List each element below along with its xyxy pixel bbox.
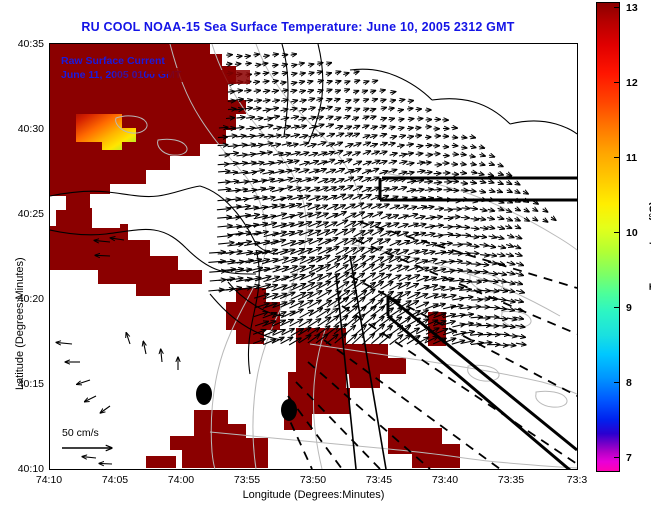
current-vector [352,333,364,344]
current-vector [308,64,314,66]
current-vector [271,116,279,118]
current-vector [398,110,404,111]
current-vector [309,161,319,164]
sst-hot-patches [50,44,246,316]
y-tick: 40:25 [0,208,44,220]
current-vector [389,127,395,129]
current-vector [227,136,237,137]
current-vector [246,117,255,118]
current-vector [543,219,548,222]
current-vector [290,108,297,110]
current-vector [282,329,295,335]
current-vector [344,89,350,91]
current-vector [370,91,376,93]
current-vector [470,182,477,183]
current-vector [415,189,424,191]
current-vector [298,249,312,255]
current-vector [217,235,232,237]
current-vector [397,250,408,255]
current-vector [498,246,506,248]
current-vector [263,73,269,74]
colorbar-tick: 13 [626,2,638,14]
current-vector [307,283,322,291]
current-vector [282,90,289,91]
current-vector [479,147,485,149]
current-vector [245,63,251,64]
current-vector [425,137,431,138]
current-vector [290,90,296,92]
current-vector [77,380,90,384]
current-vector [426,155,433,156]
current-vector [498,182,504,184]
current-vector [354,71,360,73]
current-vector [307,81,313,83]
current-vector [489,155,495,157]
current-vector [469,253,479,254]
current-vector [318,142,327,145]
colorbar-tick: 8 [626,377,632,389]
current-vector [460,154,466,155]
current-vector [406,301,419,308]
current-vector [532,218,537,221]
current-vector [451,127,457,128]
current-vector [478,280,488,281]
current-vector [345,108,351,110]
current-vector [236,56,242,57]
colorbar-tick: 9 [626,302,632,314]
current-vector [507,235,514,237]
current-vector [226,64,232,65]
current-vector [470,246,479,247]
current-vector [361,195,371,200]
current-vector [298,126,306,128]
current-vector [326,160,335,164]
current-vector [408,101,414,102]
current-vector [506,245,513,247]
current-vector [505,226,512,228]
current-vector [460,164,466,165]
current-vector [460,289,471,290]
current-vector [327,134,335,137]
current-vector [406,163,414,165]
page-title: RU COOL NOAA-15 Sea Surface Temperature:… [0,20,596,34]
current-vector [236,90,243,91]
current-vector [415,135,421,136]
x-tick: 74:10 [23,474,75,486]
current-vector [498,273,507,275]
current-vector [390,136,397,138]
current-vector [390,292,403,300]
current-vector [397,145,404,147]
current-vector [515,218,521,221]
current-vector [218,243,234,245]
current-vector [514,282,522,285]
current-vector [308,107,315,109]
current-vector [469,324,481,325]
current-vector [406,153,413,155]
current-vector [388,170,396,173]
current-vector [489,163,495,165]
current-vector [228,153,239,154]
current-vector [370,135,377,138]
current-vector [299,170,309,173]
current-vector [380,143,387,146]
current-vector [479,191,485,193]
current-vector [453,245,463,246]
current-vector [335,126,342,129]
current-vector [263,56,269,57]
current-vector [470,136,476,137]
current-vector [344,238,356,245]
current-vector [462,297,474,298]
current-vector [408,258,420,263]
current-vector [380,100,386,102]
current-vector [469,190,476,191]
current-vector [345,334,357,345]
current-vector [506,173,511,176]
current-vector [388,143,395,145]
current-vector [281,135,290,137]
current-vector [291,65,297,66]
current-vector [326,73,332,75]
colorbar-tick: 7 [626,452,632,464]
current-vector [461,199,469,200]
current-vector [291,126,299,128]
scale-legend: 50 cm/s [62,427,112,448]
current-vector [345,170,354,174]
current-vector [299,152,309,155]
current-vector [334,108,340,110]
current-vector [326,116,333,119]
current-vector [399,154,406,156]
current-vector [462,208,470,209]
current-vector [253,170,264,172]
current-vector [497,237,504,239]
current-vector [488,174,494,176]
current-vector [471,300,482,301]
current-vector [398,187,407,190]
current-vector [372,80,378,82]
current-vector [343,195,353,200]
current-vector [370,116,376,118]
current-vector [433,235,443,237]
current-vector [217,217,231,218]
current-vector [480,290,490,291]
current-vector [416,302,429,308]
current-vector [281,187,293,190]
current-vector [515,236,521,239]
current-vector [255,127,264,128]
current-vector [308,134,316,137]
current-vector [308,73,314,75]
current-vector [272,91,279,92]
current-vector [496,299,506,301]
current-vector [343,159,352,163]
current-vector [389,161,397,164]
current-vector [345,213,356,219]
current-vector [515,191,520,194]
current-vector [308,248,322,254]
current-vector [372,160,380,163]
x-tick: 74:05 [89,474,141,486]
current-vector [398,215,408,219]
current-vector [406,172,414,174]
current-vector [442,243,452,244]
current-vector [299,135,308,138]
current-vector [443,227,452,228]
current-vector [309,117,317,119]
current-vector [370,109,376,111]
current-vector [255,135,264,137]
current-vector [425,189,433,190]
current-vector [289,144,298,147]
current-vector [478,173,484,175]
current-vector [363,108,369,110]
current-vector [370,187,379,191]
current-vector [516,263,523,266]
current-vector [434,182,442,183]
current-vector [390,100,396,101]
current-vector [470,146,476,147]
current-vector [478,271,488,272]
current-vector [317,161,326,165]
current-vector [363,116,369,118]
current-vector [398,206,408,209]
current-vector [417,162,424,163]
current-vector [280,82,286,83]
current-vector [335,90,341,92]
current-vector [218,189,231,190]
current-vector [334,179,344,183]
colorbar-tick: 10 [626,227,638,239]
current-vector [433,287,445,290]
current-vector [318,317,331,326]
current-vector [506,182,512,185]
current-vector [352,169,361,173]
current-vector [298,118,306,120]
current-vector [253,82,260,83]
current-vector [415,310,428,316]
current-vector [95,255,110,256]
current-vector [354,212,365,218]
current-vector [434,269,445,272]
current-vector [235,64,241,65]
current-vector [425,226,435,228]
current-vector [461,183,468,184]
current-vector [415,128,421,129]
current-vector [415,180,423,182]
current-vector [444,210,453,211]
current-vector [316,124,324,127]
current-vector [244,56,250,57]
current-vector [399,100,405,101]
current-vector [362,178,371,182]
current-vector [398,292,411,299]
current-vector [263,91,270,92]
current-vector [226,55,232,56]
current-vector [218,171,230,172]
current-vector [334,99,340,101]
current-vector [543,209,548,212]
current-vector [551,217,556,220]
current-vector [515,253,522,256]
current-vector [497,227,504,229]
current-vector [263,81,269,82]
current-vector [246,144,256,146]
current-vector [353,203,363,208]
current-vector [291,73,297,74]
current-vector [254,90,261,91]
current-vector [264,118,272,120]
current-vector [372,212,382,217]
current-vector [308,98,315,100]
current-vector [335,169,344,173]
current-vector [363,81,369,83]
current-vector [515,226,521,229]
current-vector [273,127,282,129]
current-vector [334,142,342,145]
current-vector [523,191,528,194]
current-vector [444,295,456,298]
annotation-line-1: Raw Surface Current [61,55,165,67]
current-vector [417,171,425,172]
x-axis-label: Longitude (Degrees:Minutes) [49,489,578,501]
current-vector [244,90,251,91]
current-vector [345,204,356,209]
current-vector [488,181,494,183]
current-vector [227,244,243,246]
current-vector [336,133,344,136]
current-vector [426,145,432,146]
current-vector [309,213,321,218]
current-vector [245,100,253,101]
current-vector [505,309,515,311]
current-vector [343,73,349,75]
current-vector [407,190,416,192]
current-vector [362,204,372,209]
current-vector [228,91,235,92]
current-vector [281,223,295,227]
current-vector [353,99,359,101]
current-vector [460,173,466,174]
current-vector [407,207,417,210]
current-vector [480,255,489,256]
current-vector [514,317,523,319]
current-vector [363,162,371,166]
current-vector [236,241,252,244]
current-vector [307,300,321,308]
current-vector [390,92,396,93]
current-vector [254,100,261,101]
current-vector [434,225,444,227]
current-vector [219,127,228,128]
x-tick: 73:3 [551,474,603,486]
current-vector [399,275,411,281]
current-vector [388,108,394,109]
current-vector [371,151,379,154]
current-vector [507,190,513,192]
current-vector [326,107,333,109]
current-vector [372,230,383,236]
current-vector [290,152,300,155]
current-vector [253,108,261,109]
current-vector [290,249,304,255]
colorbar [596,2,620,472]
current-vector [417,118,423,119]
current-vector [325,230,337,236]
current-vector [299,283,314,291]
current-vector [496,308,506,309]
current-vector [272,100,279,101]
current-vector [253,54,259,55]
current-vector [506,218,512,220]
current-vector [263,172,274,174]
current-vector [344,81,350,83]
current-vector [327,81,333,83]
current-vector [363,142,371,145]
current-vector [371,126,378,128]
current-vector [470,164,476,165]
current-vector [362,248,374,255]
current-vector [480,209,487,211]
current-vector [480,228,488,229]
radar-site-east[interactable] [281,399,297,421]
current-vector [352,133,359,136]
current-vector [281,100,288,102]
current-vector [272,54,278,55]
current-vector [370,169,379,172]
current-vector [424,172,432,173]
current-vector [82,457,96,458]
current-vector [354,177,363,181]
radar-site-west[interactable] [196,383,212,405]
map-plot-area[interactable]: Raw Surface Current June 11, 2005 0100 G… [49,43,578,470]
current-vector [352,152,360,156]
current-vector [254,73,260,74]
current-vector [282,284,297,290]
colorbar-tick: 11 [626,152,637,164]
current-vector [497,254,505,256]
current-vector [218,226,233,227]
current-vector [489,290,499,291]
colorbar-tick: 12 [626,77,638,89]
current-vector [488,254,497,256]
current-vector [416,146,423,147]
current-vector [282,143,291,145]
current-vector [335,81,341,83]
current-vector [516,343,526,345]
current-vector [291,116,299,118]
current-vector [488,262,497,264]
current-vector [317,71,323,73]
current-vector [489,236,497,238]
figure-root: RU COOL NOAA-15 Sea Surface Temperature:… [0,0,651,515]
current-vector [444,218,453,219]
current-vector [379,265,391,272]
current-vector [425,233,435,235]
current-vector [372,99,378,101]
x-tick: 73:50 [287,474,339,486]
current-vector [407,266,419,271]
current-vector [488,317,499,318]
current-vector [262,63,268,64]
colorbar-gradient [597,3,619,471]
current-vector [399,172,407,174]
current-vector [326,90,332,92]
current-vector [515,182,520,185]
current-vector [298,292,313,300]
current-vector [218,137,228,138]
